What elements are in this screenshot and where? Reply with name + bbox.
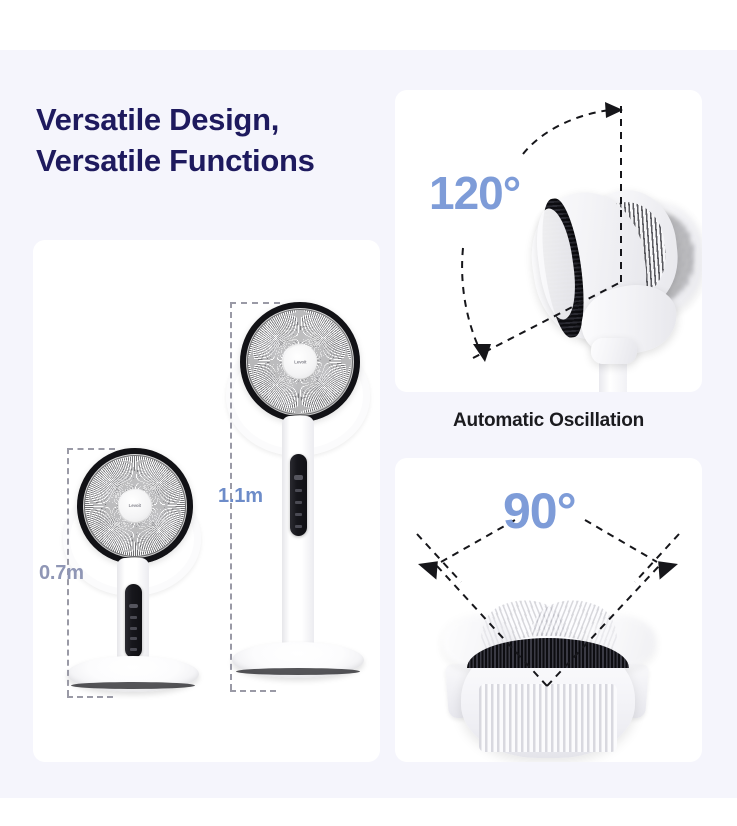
tilt-angle-label: 120° xyxy=(429,170,520,216)
short-fan-measure-bottom-tick xyxy=(67,696,113,698)
control-panel-button[interactable] xyxy=(130,616,137,619)
page-title-line-2: Versatile Functions xyxy=(36,141,396,182)
tall-fan: Levoit xyxy=(218,290,378,730)
short-fan-measure-top-tick xyxy=(67,448,115,450)
tall-fan-neck xyxy=(282,416,314,658)
tilt-fan-illustration xyxy=(395,90,702,392)
height-comparison-card: Levoit xyxy=(33,240,380,762)
control-panel-button[interactable] xyxy=(130,648,137,651)
infographic-page: Versatile Design, Versatile Functions Le… xyxy=(0,0,737,826)
control-panel-button[interactable] xyxy=(295,513,302,516)
short-fan-height-label: 0.7m xyxy=(39,562,84,585)
tall-fan-control-panel[interactable] xyxy=(290,454,307,536)
control-panel-button[interactable] xyxy=(130,637,137,640)
short-fan-base-rim xyxy=(71,682,195,689)
tall-fan-height-label: 1.1m xyxy=(218,485,263,508)
vertical-oscillation-card: 120° xyxy=(395,90,702,392)
short-fan-outer-ring xyxy=(77,448,193,564)
tall-fan-outer-ring xyxy=(240,302,360,422)
topdown-fan-front-grille xyxy=(479,684,617,752)
short-fan-control-panel[interactable] xyxy=(125,584,142,658)
page-title: Versatile Design, Versatile Functions xyxy=(36,100,396,182)
oscillation-caption: Automatic Oscillation xyxy=(395,410,702,432)
control-panel-button[interactable] xyxy=(295,525,302,528)
control-panel-button[interactable] xyxy=(130,627,137,630)
control-panel-button[interactable] xyxy=(295,489,302,492)
tall-fan-measure-bottom-tick xyxy=(230,690,276,692)
control-panel-display xyxy=(129,604,138,609)
tall-fan-base-rim xyxy=(236,668,360,675)
tilt-fan-stem-collar xyxy=(591,338,637,364)
control-panel-display xyxy=(294,475,303,481)
page-title-line-1: Versatile Design, xyxy=(36,100,396,141)
horizontal-oscillation-card: 90° xyxy=(395,458,702,762)
control-panel-button[interactable] xyxy=(295,501,302,504)
tall-fan-measure-top-tick xyxy=(230,302,280,304)
rotate-angle-label: 90° xyxy=(503,486,576,536)
